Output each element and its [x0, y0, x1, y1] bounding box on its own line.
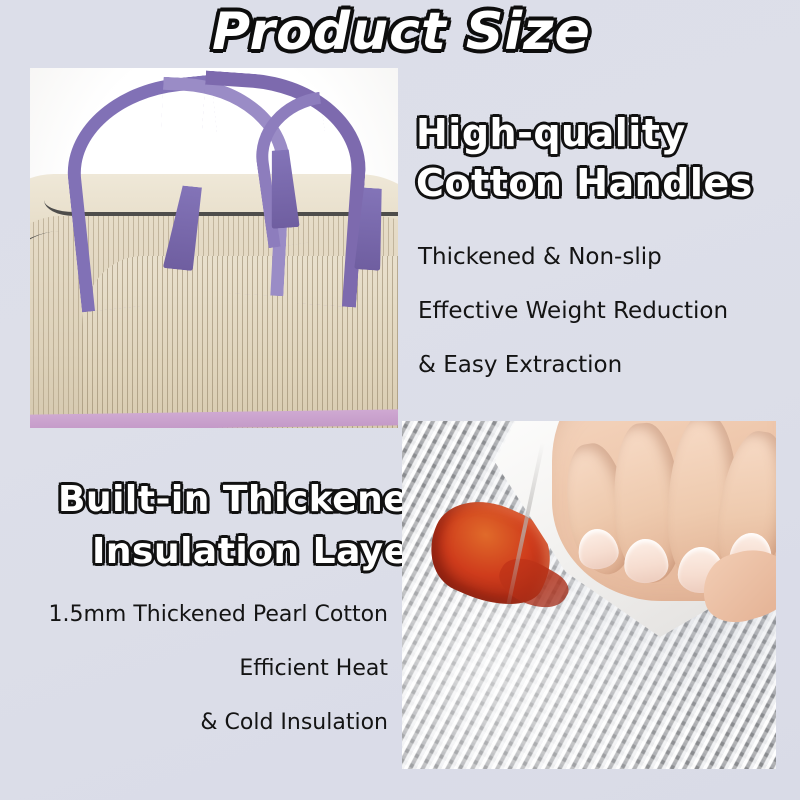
heading-line-2: Insulation Layer	[92, 526, 434, 578]
heading-insulation-layer: Built-in Thickened Insulation Layer	[58, 474, 434, 578]
copy-line-2: Effective Weight Reduction	[418, 284, 728, 338]
heading-line-2: Cotton Handles	[416, 158, 753, 208]
copy-line-1: 1.5mm Thickened Pearl Cotton	[0, 588, 388, 642]
copy-line-3: & Easy Extraction	[418, 338, 728, 392]
copy-line-2: Efficient Heat	[0, 642, 388, 696]
copy-line-3: & Cold Insulation	[0, 696, 388, 750]
lunch-bag-photo	[30, 68, 398, 428]
copy-line-1: Thickened & Non-slip	[418, 230, 728, 284]
body-copy-cotton-handles: Thickened & Non-slip Effective Weight Re…	[418, 230, 728, 392]
heading-line-1: High-quality	[416, 108, 753, 158]
foil-insulation-photo	[402, 421, 776, 769]
page-title: Product Size	[212, 2, 591, 62]
product-size-poster: Product Size High-quality Cotton Handles…	[0, 0, 800, 800]
heading-line-1: Built-in Thickened	[58, 474, 434, 526]
body-copy-insulation-layer: 1.5mm Thickened Pearl Cotton Efficient H…	[0, 588, 388, 750]
heading-cotton-handles: High-quality Cotton Handles	[416, 108, 753, 208]
